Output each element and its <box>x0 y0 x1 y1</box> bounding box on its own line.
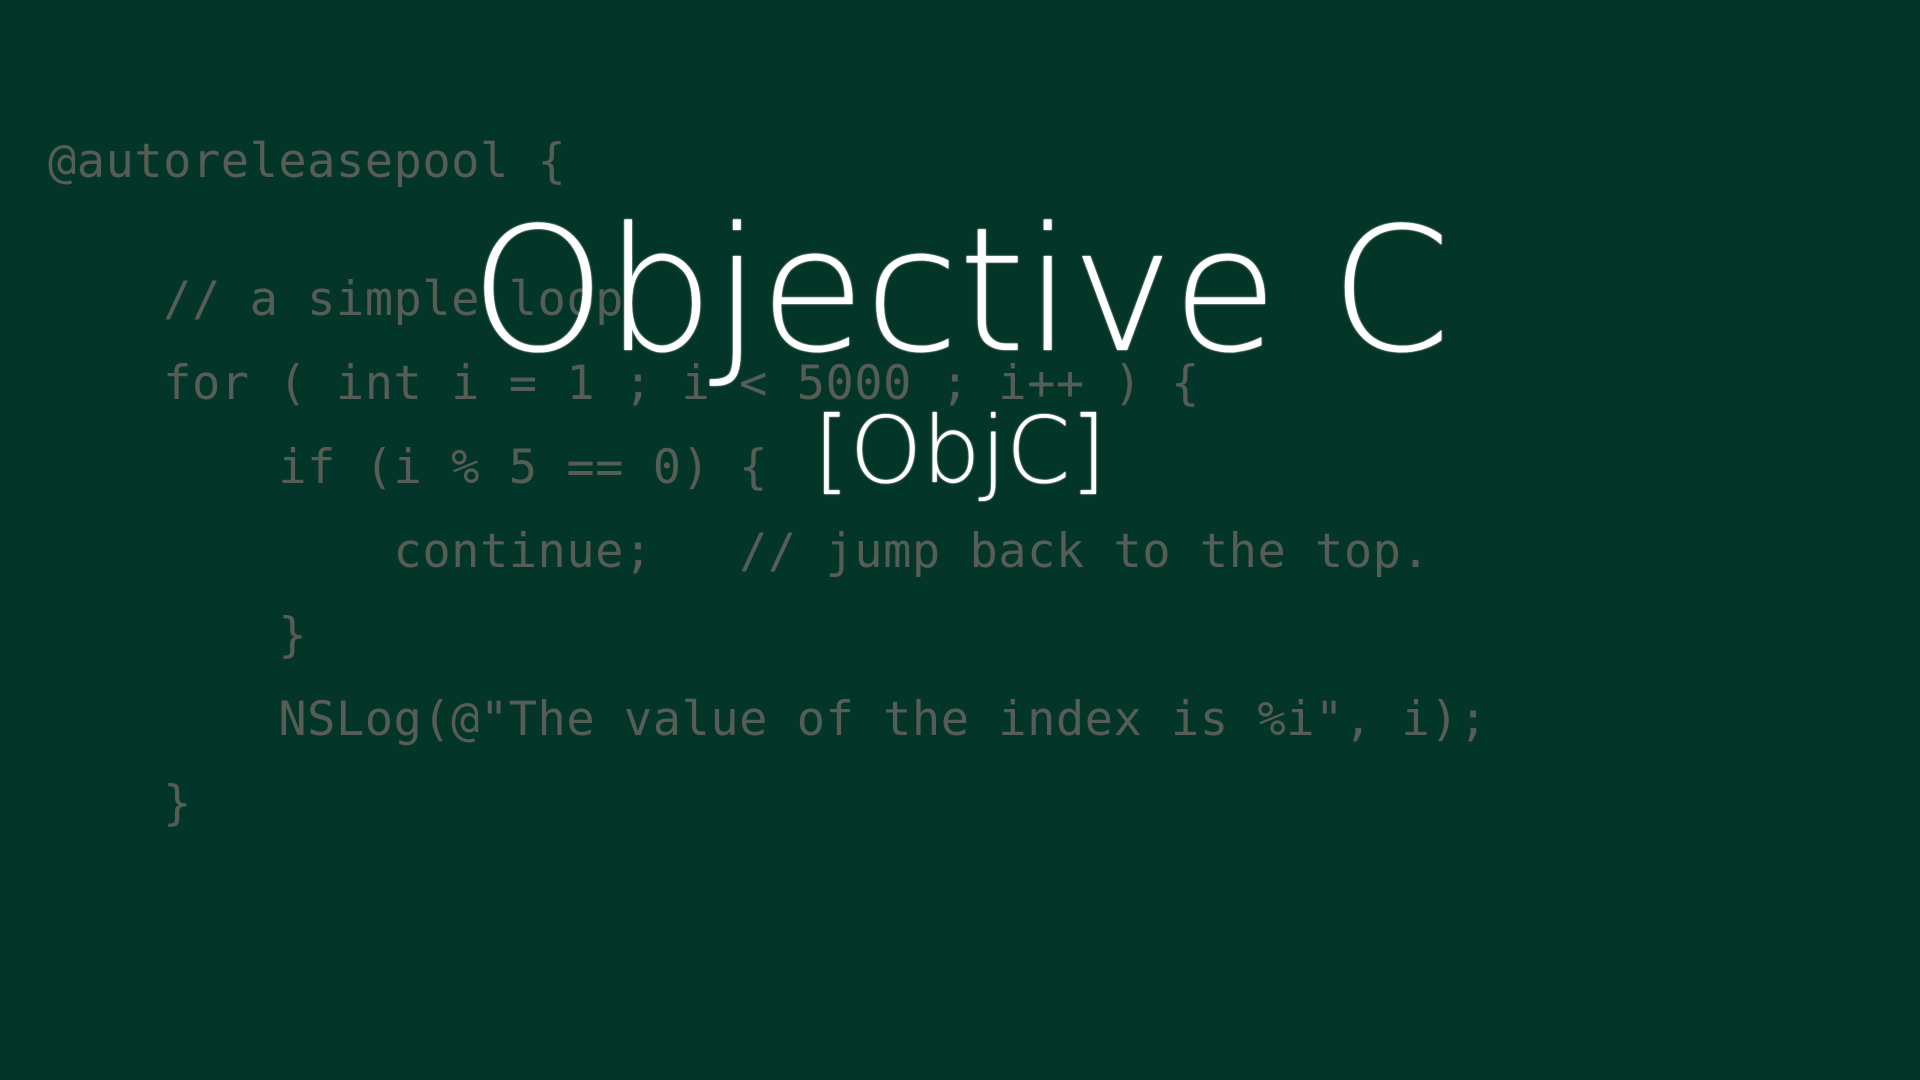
code-line: } <box>48 612 307 659</box>
code-line: continue; // jump back to the top. <box>48 528 1430 575</box>
background-code-block: @autoreleasepool { // a simple loop for … <box>0 0 1920 1080</box>
code-line: NSLog(@"The value of the index is %i", i… <box>48 696 1488 743</box>
code-line: for ( int i = 1 ; i < 5000 ; i++ ) { <box>48 360 1200 407</box>
code-line: } <box>48 780 192 827</box>
code-line: if (i % 5 == 0) { <box>48 444 768 491</box>
code-line: @autoreleasepool { <box>48 138 566 185</box>
code-line: // a simple loop <box>48 276 624 323</box>
slide-canvas: @autoreleasepool { // a simple loop for … <box>0 0 1920 1080</box>
